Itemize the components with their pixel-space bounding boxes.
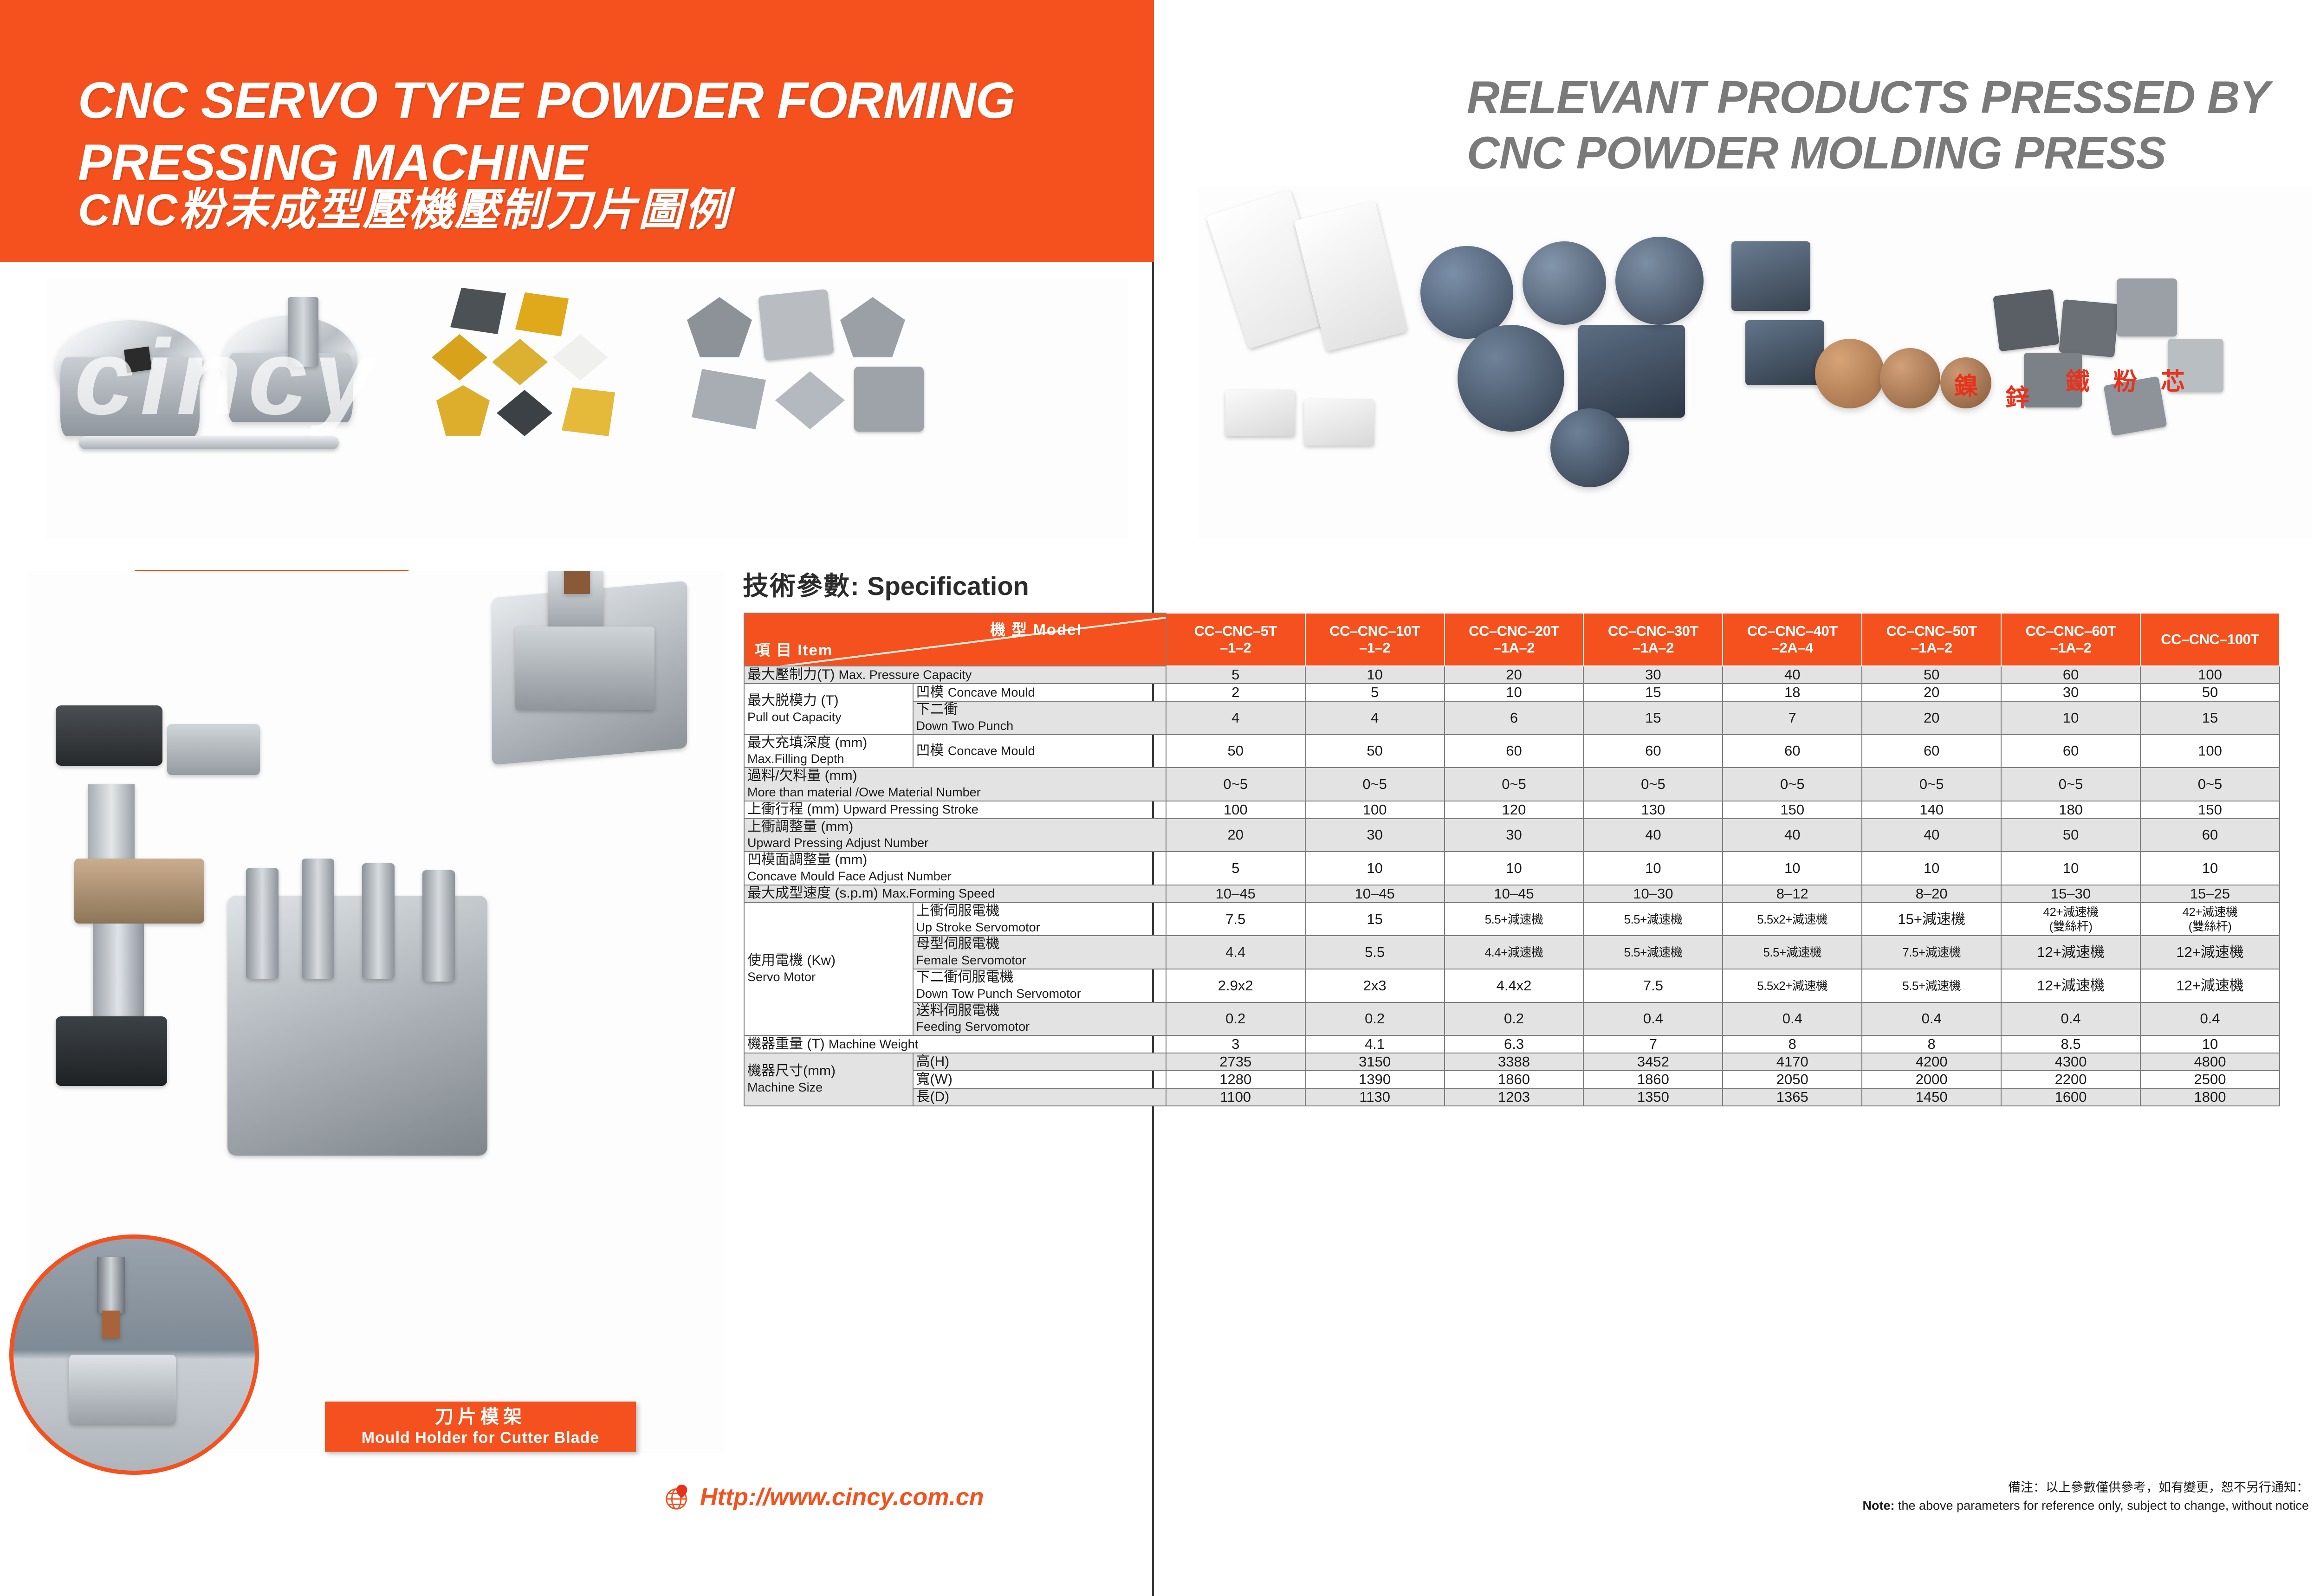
- cell-value: 5.5+減速機: [1583, 903, 1723, 936]
- row-label-zh: 上衝調整量 (mm): [747, 819, 853, 834]
- row-label-en: Up Stroke Servomotor: [916, 920, 1040, 934]
- row-label-en: Max. Pressure Capacity: [839, 668, 972, 682]
- row-label: 凹模面調整量 (mm)Concave Mould Face Adjust Num…: [744, 852, 1166, 885]
- cell-value: 60: [1862, 735, 2001, 768]
- cell-value: 5.5+減速機: [1862, 969, 2001, 1002]
- cell-value: 10–45: [1445, 885, 1584, 903]
- row-label-zh: 機器重量 (T): [747, 1036, 825, 1052]
- cell-value: 1350: [1583, 1088, 1723, 1106]
- cell-value: 4300: [2001, 1053, 2140, 1071]
- row-label-zh: 下二衝伺服電機: [916, 969, 1014, 985]
- cell-value: 5: [1166, 852, 1305, 885]
- cell-value: 1390: [1305, 1071, 1445, 1088]
- table-row: 下二衝Down Two Punch446157201015: [744, 701, 2280, 735]
- specification-table: 機 型 Model 項 目 Item CC–CNC–5T –1–2 CC–CNC…: [744, 613, 2280, 1106]
- row-label-zh: 凹模面調整量 (mm): [747, 852, 867, 867]
- row-label: 機器尺寸(mm)Machine Size: [744, 1053, 913, 1106]
- cell-value: 30: [1583, 666, 1723, 684]
- cell-value: 60: [1583, 735, 1723, 768]
- cell-value: 1450: [1862, 1088, 2001, 1106]
- model-header-0: CC–CNC–5T –1–2: [1166, 613, 1305, 666]
- cell-value: 140: [1862, 801, 2001, 819]
- cell-value: 3: [1166, 1035, 1305, 1053]
- cell-value: 42+減速機 (雙絲杆): [2001, 903, 2140, 936]
- cell-value: 60: [2001, 735, 2140, 768]
- cell-value: 50: [1166, 735, 1305, 768]
- left-title-zh: CNC粉末成型壓機壓制刀片圖例: [78, 186, 1099, 235]
- cell-value: 10–45: [1166, 885, 1305, 903]
- cell-value: 40: [1723, 666, 1862, 684]
- cell-value: 0~5: [1723, 768, 1862, 801]
- cell-value: 1203: [1445, 1088, 1584, 1106]
- spec-title-en: Specification: [867, 571, 1029, 601]
- right-title-en: RELEVANT PRODUCTS PRESSED BY CNC POWDER …: [1467, 70, 2302, 181]
- model-header-5: CC–CNC–50T –1A–2: [1862, 613, 2001, 666]
- cell-value: 0.4: [1862, 1002, 2001, 1036]
- cell-value: 8: [1723, 1035, 1862, 1053]
- caption-mould-holder-zh: 刀片模架: [435, 1406, 526, 1428]
- cell-value: 40: [1723, 819, 1862, 852]
- cell-value: 0.4: [1583, 1002, 1723, 1036]
- table-row: 送料伺服電機Feeding Servomotor0.20.20.20.40.40…: [744, 1002, 2280, 1036]
- cell-value: 0.4: [2001, 1002, 2140, 1036]
- footnote-en-line: Note: the above parameters for reference…: [1427, 1497, 2309, 1515]
- cell-value: 50: [2140, 684, 2280, 701]
- cell-value: 4200: [1862, 1053, 2001, 1071]
- cell-value: 12+減速機: [2140, 936, 2280, 969]
- cell-value: 1860: [1445, 1071, 1584, 1088]
- row-label: 最大壓制力(T) Max. Pressure Capacity: [744, 666, 1166, 684]
- left-title-banner: CNC SERVO TYPE POWDER FORMING PRESSING M…: [0, 0, 1152, 262]
- row-label-en: Concave Mould: [948, 685, 1035, 699]
- left-title-en: CNC SERVO TYPE POWDER FORMING PRESSING M…: [78, 70, 1099, 194]
- cell-value: 18: [1723, 684, 1862, 701]
- table-row: 下二衝伺服電機Down Tow Punch Servomotor2.9x22x3…: [744, 969, 2280, 1002]
- cell-value: 0~5: [1305, 768, 1445, 801]
- row-label-zh: 上衝行程 (mm): [747, 801, 839, 817]
- cell-value: 30: [2001, 684, 2140, 701]
- cell-value: 7: [1583, 1035, 1723, 1053]
- row-label: 最大脱模力 (T)Pull out Capacity: [744, 684, 913, 735]
- spec-title: 技術參數: Specification: [743, 565, 1029, 603]
- cell-value: 5: [1166, 666, 1305, 684]
- row-label-en: Max.Filling Depth: [747, 752, 844, 766]
- row-label-zh: 下二衝: [916, 702, 958, 717]
- cell-value: 5.5x2+減速機: [1723, 903, 1862, 936]
- table-row: 最大壓制力(T) Max. Pressure Capacity510203040…: [744, 666, 2280, 684]
- model-header-7: CC–CNC–100T: [2140, 613, 2280, 666]
- cell-value: 20: [1862, 701, 2001, 735]
- row-label-zh: 最大脱模力 (T): [747, 693, 839, 708]
- row-label: 機器重量 (T) Machine Weight: [744, 1035, 1166, 1053]
- cell-value: 1130: [1305, 1088, 1445, 1106]
- cell-value: 0~5: [2140, 768, 2280, 801]
- cell-value: 0~5: [2001, 768, 2140, 801]
- cell-value: 8.5: [2001, 1035, 2140, 1053]
- row-label-zh: 凹模: [916, 743, 944, 758]
- cell-value: 120: [1445, 801, 1584, 819]
- cell-value: 30: [1305, 819, 1445, 852]
- table-row: 母型伺服電機Female Servomotor4.45.54.4+減速機5.5+…: [744, 936, 2280, 969]
- row-label-en: Pull out Capacity: [747, 710, 842, 724]
- row-label-en: Upward Pressing Stroke: [843, 802, 979, 816]
- row-sublabel: 下二衝伺服電機Down Tow Punch Servomotor: [913, 969, 1166, 1002]
- cell-value: 4170: [1723, 1053, 1862, 1071]
- cell-value: 20: [1166, 819, 1305, 852]
- banner-edge: [1152, 0, 1154, 262]
- row-label-zh: 長(D): [916, 1089, 950, 1105]
- cell-value: 0~5: [1445, 768, 1584, 801]
- model-header-6: CC–CNC–60T –1A–2: [2001, 613, 2140, 666]
- table-row: 機器重量 (T) Machine Weight34.16.37888.510: [744, 1035, 2280, 1053]
- cell-value: 60: [1723, 735, 1862, 768]
- row-label-en: Feeding Servomotor: [916, 1020, 1030, 1034]
- cell-value: 0~5: [1166, 768, 1305, 801]
- cell-value: 10: [2001, 852, 2140, 885]
- product-label-nickel: 鎳: [1954, 367, 1978, 401]
- globe-icon: [664, 1483, 693, 1512]
- product-label-zinc: 鋅: [2005, 378, 2029, 413]
- model-header-1: CC–CNC–10T –1–2: [1305, 613, 1445, 666]
- cell-value: 8–20: [1862, 885, 2001, 903]
- row-label-zh: 送料伺服電機: [916, 1003, 1000, 1018]
- row-label-en: Concave Mould Face Adjust Number: [747, 869, 952, 883]
- table-row: 寬(W)12801390186018602050200022002500: [744, 1071, 2280, 1088]
- row-label-zh: 使用電機 (Kw): [747, 953, 836, 968]
- cell-value: 2000: [1862, 1071, 2001, 1088]
- cell-value: 60: [2140, 819, 2280, 852]
- cell-value: 12+減速機: [2140, 969, 2280, 1002]
- cell-value: 60: [2001, 666, 2140, 684]
- footnote-en-text: the above parameters for reference only,…: [1894, 1499, 2309, 1512]
- row-label-zh: 寬(W): [916, 1072, 953, 1087]
- row-label-en: Down Two Punch: [916, 719, 1014, 733]
- cell-value: 4: [1305, 701, 1445, 735]
- cell-value: 1365: [1723, 1088, 1862, 1106]
- table-row: 最大脱模力 (T)Pull out Capacity凹模 Concave Mou…: [744, 684, 2280, 701]
- row-label-en: Female Servomotor: [916, 953, 1026, 967]
- row-label: 上衝行程 (mm) Upward Pressing Stroke: [744, 801, 1166, 819]
- row-label-en: Servo Motor: [747, 970, 816, 984]
- corner-model-label: 機 型 Model: [990, 621, 1082, 639]
- row-label-zh: 過料/欠料量 (mm): [747, 768, 857, 783]
- cell-value: 6: [1445, 701, 1584, 735]
- pressed-products-photo-group: 鎳 鋅 鐵 粉 芯: [1198, 186, 2312, 538]
- table-row: 使用電機 (Kw)Servo Motor上衝伺服電機Up Stroke Serv…: [744, 903, 2280, 936]
- cell-value: 2x3: [1305, 969, 1445, 1002]
- table-row: 上衝調整量 (mm)Upward Pressing Adjust Number2…: [744, 819, 2280, 852]
- row-label-en: Concave Mould: [948, 744, 1035, 758]
- cell-value: 8–12: [1723, 885, 1862, 903]
- cell-value: 100: [1305, 801, 1445, 819]
- row-label-zh: 上衝伺服電機: [916, 903, 1000, 918]
- cell-value: 12+減速機: [2001, 936, 2140, 969]
- cell-value: 10: [1862, 852, 2001, 885]
- row-sublabel: 送料伺服電機Feeding Servomotor: [913, 1002, 1166, 1036]
- cell-value: 15: [2140, 701, 2280, 735]
- cell-value: 10: [1723, 852, 1862, 885]
- cell-value: 7.5+減速機: [1862, 936, 2001, 969]
- cell-value: 100: [1166, 801, 1305, 819]
- cell-value: 5.5+減速機: [1445, 903, 1584, 936]
- cell-value: 0~5: [1583, 768, 1723, 801]
- cell-value: 3452: [1583, 1053, 1723, 1071]
- cutter-blade-photo-group: cincy: [46, 278, 1128, 538]
- cell-value: 5.5+減速機: [1583, 936, 1723, 969]
- cell-value: 7.5: [1166, 903, 1305, 936]
- row-label: 最大成型速度 (s.p.m) Max.Forming Speed: [744, 885, 1166, 903]
- cell-value: 15: [1583, 684, 1723, 701]
- cell-value: 10: [1583, 852, 1723, 885]
- row-label-en: More than material /Owe Material Number: [747, 785, 981, 799]
- row-label-en: Machine Size: [747, 1080, 823, 1094]
- row-label-zh: 最大充填深度 (mm): [747, 735, 867, 750]
- cell-value: 10: [1445, 684, 1584, 701]
- product-label-iron-powder-core: 鐵 粉 芯: [2066, 362, 2193, 397]
- table-header-row: 機 型 Model 項 目 Item CC–CNC–5T –1–2 CC–CNC…: [744, 613, 2280, 666]
- cell-value: 10: [1445, 852, 1584, 885]
- table-row: 長(D)11001130120313501365145016001800: [744, 1088, 2280, 1106]
- cell-value: 5.5+減速機: [1723, 936, 1862, 969]
- cell-value: 2050: [1723, 1071, 1862, 1088]
- model-header-3: CC–CNC–30T –1A–2: [1583, 613, 1723, 666]
- cell-value: 180: [2001, 801, 2140, 819]
- cell-value: 50: [2001, 819, 2140, 852]
- cell-value: 4: [1166, 701, 1305, 735]
- cell-value: 130: [1583, 801, 1723, 819]
- table-corner-cell: 機 型 Model 項 目 Item: [744, 613, 1166, 666]
- row-label: 使用電機 (Kw)Servo Motor: [744, 903, 913, 1035]
- table-row: 凹模面調整量 (mm)Concave Mould Face Adjust Num…: [744, 852, 2280, 885]
- cell-value: 20: [1862, 684, 2001, 701]
- spec-title-zh: 技術參數:: [743, 571, 860, 601]
- cell-value: 50: [1305, 735, 1445, 768]
- row-label-zh: 凹模: [916, 685, 944, 700]
- cell-value: 4.4: [1166, 936, 1305, 969]
- table-row: 機器尺寸(mm)Machine Size高(H)2735315033883452…: [744, 1053, 2280, 1071]
- cell-value: 0.4: [2140, 1002, 2280, 1036]
- row-sublabel: 下二衝Down Two Punch: [913, 701, 1166, 735]
- cell-value: 5: [1305, 684, 1445, 701]
- cell-value: 4.4x2: [1445, 969, 1584, 1002]
- cell-value: 1280: [1166, 1071, 1305, 1088]
- row-sublabel: 高(H): [913, 1053, 1166, 1071]
- model-header-4: CC–CNC–40T –2A–4: [1723, 613, 1862, 666]
- cell-value: 0~5: [1862, 768, 2001, 801]
- table-row: 上衝行程 (mm) Upward Pressing Stroke10010012…: [744, 801, 2280, 819]
- cell-value: 100: [2140, 735, 2280, 768]
- row-sublabel: 凹模 Concave Mould: [913, 684, 1166, 701]
- cell-value: 15–25: [2140, 885, 2280, 903]
- footnote-en-label: Note:: [1862, 1499, 1894, 1512]
- row-sublabel: 上衝伺服電機Up Stroke Servomotor: [913, 903, 1166, 936]
- row-sublabel: 母型伺服電機Female Servomotor: [913, 936, 1166, 969]
- cell-value: 0.2: [1445, 1002, 1584, 1036]
- row-label-zh: 母型伺服電機: [916, 936, 1000, 951]
- table-row: 過料/欠料量 (mm)More than material /Owe Mater…: [744, 768, 2280, 801]
- cell-value: 4.1: [1305, 1035, 1445, 1053]
- cell-value: 10–30: [1583, 885, 1723, 903]
- cell-value: 4.4+減速機: [1445, 936, 1584, 969]
- row-sublabel: 凹模 Concave Mould: [913, 735, 1166, 768]
- cell-value: 3388: [1445, 1053, 1584, 1071]
- cell-value: 1600: [2001, 1088, 2140, 1106]
- row-sublabel: 長(D): [913, 1088, 1166, 1106]
- row-label-zh: 最大壓制力(T): [747, 667, 835, 682]
- cell-value: 150: [1723, 801, 1862, 819]
- cell-value: 15: [1305, 903, 1445, 936]
- cell-value: 1800: [2140, 1088, 2280, 1106]
- cell-value: 40: [1862, 819, 2001, 852]
- row-label-en: Machine Weight: [829, 1037, 918, 1051]
- row-label-zh: 高(H): [916, 1054, 950, 1069]
- cell-value: 10: [2001, 701, 2140, 735]
- cell-value: 2500: [2140, 1071, 2280, 1088]
- table-row: 最大充填深度 (mm)Max.Filling Depth凹模 Concave M…: [744, 735, 2280, 768]
- cell-value: 7: [1723, 701, 1862, 735]
- row-sublabel: 寬(W): [913, 1071, 1166, 1088]
- cell-value: 10: [1305, 666, 1445, 684]
- corner-item-label: 項 目 Item: [755, 641, 833, 659]
- cell-value: 60: [1445, 735, 1584, 768]
- cell-value: 8: [1862, 1035, 2001, 1053]
- cell-value: 0.4: [1723, 1002, 1862, 1036]
- cell-value: 15+減速機: [1862, 903, 2001, 936]
- cell-value: 5.5x2+減速機: [1723, 969, 1862, 1002]
- cell-value: 10–45: [1305, 885, 1445, 903]
- row-label-zh: 最大成型速度 (s.p.m): [747, 885, 878, 901]
- cell-value: 10: [2140, 852, 2280, 885]
- cell-value: 10: [1305, 852, 1445, 885]
- row-label-zh: 機器尺寸(mm): [747, 1063, 836, 1079]
- cell-value: 6.3: [1445, 1035, 1584, 1053]
- row-label: 最大充填深度 (mm)Max.Filling Depth: [744, 735, 913, 768]
- footnote-zh: 備注：以上參數僅供參考，如有變更，恕不另行通知：: [1427, 1479, 2309, 1497]
- cell-value: 0.2: [1166, 1002, 1305, 1036]
- cell-value: 3150: [1305, 1053, 1445, 1071]
- cell-value: 10: [2140, 1035, 2280, 1053]
- cell-value: 2: [1166, 684, 1305, 701]
- cell-value: 2200: [2001, 1071, 2140, 1088]
- cell-value: 4800: [2140, 1053, 2280, 1071]
- row-label-en: Upward Pressing Adjust Number: [747, 836, 928, 850]
- cell-value: 150: [2140, 801, 2280, 819]
- website-url[interactable]: Http://www.cincy.com.cn: [664, 1483, 984, 1512]
- caption-mould-holder-en: Mould Holder for Cutter Blade: [362, 1428, 600, 1447]
- caption-mould-holder: 刀片模架 Mould Holder for Cutter Blade: [325, 1402, 636, 1452]
- table-row: 最大成型速度 (s.p.m) Max.Forming Speed10–4510–…: [744, 885, 2280, 903]
- row-label-en: Max.Forming Speed: [882, 886, 995, 900]
- cell-value: 2.9x2: [1166, 969, 1305, 1002]
- cell-value: 50: [1862, 666, 2001, 684]
- cell-value: 20: [1445, 666, 1584, 684]
- cell-value: 15–30: [2001, 885, 2140, 903]
- model-header-2: CC–CNC–20T –1A–2: [1445, 613, 1584, 666]
- cell-value: 12+減速機: [2001, 969, 2140, 1002]
- inset-circular-photo: [9, 1234, 259, 1475]
- cell-value: 100: [2140, 666, 2280, 684]
- website-url-text[interactable]: Http://www.cincy.com.cn: [700, 1483, 984, 1511]
- cell-value: 15: [1583, 701, 1723, 735]
- row-label: 上衝調整量 (mm)Upward Pressing Adjust Number: [744, 819, 1166, 852]
- cell-value: 7.5: [1583, 969, 1723, 1002]
- cell-value: 0.2: [1305, 1002, 1445, 1036]
- poster-page: CNC SERVO TYPE POWDER FORMING PRESSING M…: [0, 0, 2320, 1596]
- cell-value: 1100: [1166, 1088, 1305, 1106]
- cell-value: 42+減速機 (雙絲杆): [2140, 903, 2280, 936]
- row-label: 過料/欠料量 (mm)More than material /Owe Mater…: [744, 768, 1166, 801]
- cell-value: 1860: [1583, 1071, 1723, 1088]
- footnote: 備注：以上參數僅供參考，如有變更，恕不另行通知： Note: the above…: [1427, 1479, 2309, 1515]
- cell-value: 2735: [1166, 1053, 1305, 1071]
- cell-value: 5.5: [1305, 936, 1445, 969]
- row-label-en: Down Tow Punch Servomotor: [916, 987, 1081, 1001]
- cell-value: 30: [1445, 819, 1584, 852]
- cell-value: 40: [1583, 819, 1723, 852]
